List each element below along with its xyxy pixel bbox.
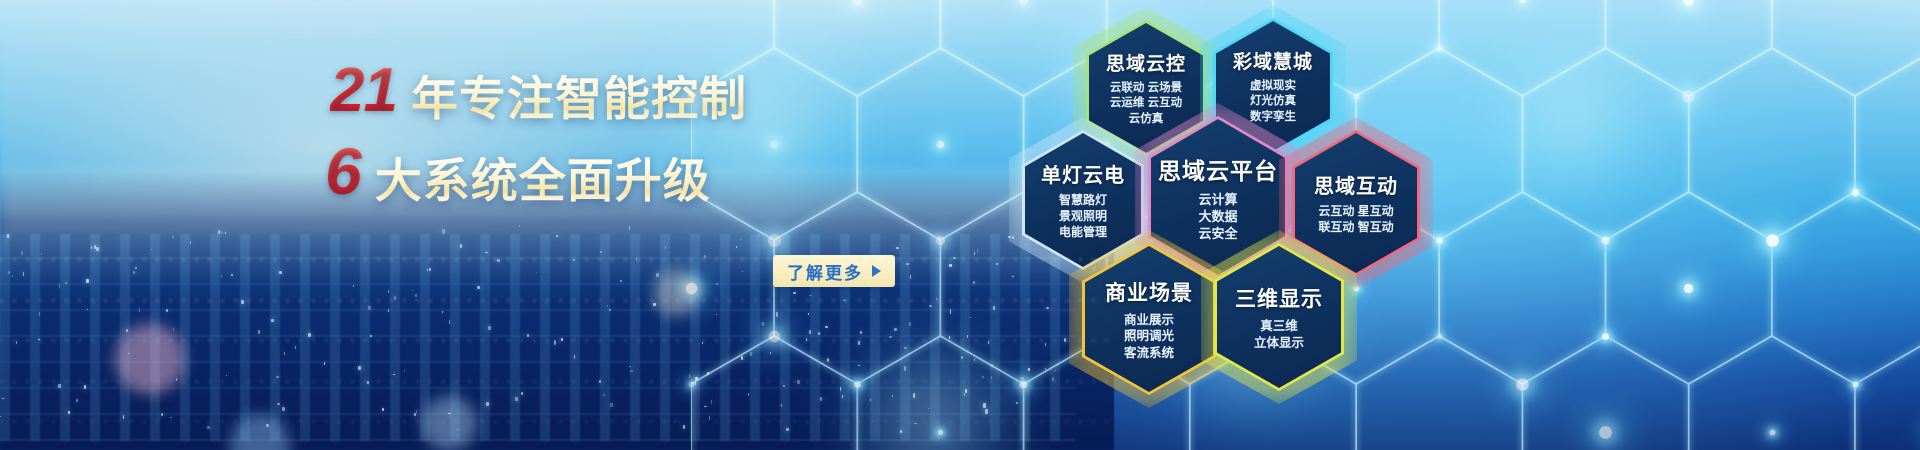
hexagon-subtitle-list: 云互动 星互动联互动 智互动 (1314, 204, 1398, 236)
hexagon-content: 思域互动云互动 星互动联互动 智互动 (1308, 170, 1404, 236)
learn-more-label: 了解更多 (787, 259, 863, 284)
headline-text-1: 年专注智能控制 (411, 75, 747, 122)
hexagon-subtitle-line: 景观照明 (1041, 209, 1125, 225)
hexagon-subtitle-line: 真三维 (1235, 318, 1323, 335)
hexagon-subtitle-line: 灯光仿真 (1233, 94, 1313, 109)
hexagon-content: 彩域慧城虚拟现实灯光仿真数字孪生 (1227, 47, 1319, 125)
hexagon-card-three-dimensional-display[interactable]: 三维显示真三维立体显示 (1214, 243, 1344, 391)
hexagon-title: 思域云控 (1106, 49, 1186, 76)
hexagon-subtitle-line: 联互动 智互动 (1314, 220, 1398, 236)
hexagon-card-commercial-scene[interactable]: 商业场景商业展示照明调光客流系统 (1082, 243, 1216, 395)
hexagon-subtitle-line: 虚拟现实 (1233, 79, 1313, 94)
hexagon-title: 思域互动 (1314, 170, 1398, 199)
hexagon-subtitle-list: 商业展示照明调光客流系统 (1105, 312, 1193, 362)
hexagon-subtitle-line: 大数据 (1158, 208, 1278, 225)
hexagon-subtitle-line: 云仿真 (1106, 112, 1186, 127)
hexagon-title: 思域云平台 (1158, 152, 1278, 186)
play-triangle-icon (872, 265, 881, 277)
hexagon-title: 彩域慧城 (1233, 47, 1313, 74)
hexagon-subtitle-line: 云联动 云场景 (1106, 81, 1186, 96)
headline-text-2: 大系统全面升级 (375, 157, 711, 204)
hexagon-title: 单灯云电 (1041, 159, 1125, 188)
hexagon-subtitle-line: 云安全 (1158, 225, 1278, 242)
promo-banner: 21 年专注智能控制 6 大系统全面升级 了解更多 思域云控云联动 云场景云运维… (0, 0, 1920, 450)
headline-number-21: 21 (330, 60, 411, 122)
hexagon-subtitle-line: 商业展示 (1105, 312, 1193, 329)
hexagon-content: 思域云控云联动 云场景云运维 云互动云仿真 (1100, 49, 1192, 127)
hexagon-title: 三维显示 (1235, 283, 1323, 313)
hexagon-content: 商业场景商业展示照明调光客流系统 (1099, 277, 1199, 362)
hexagon-title: 商业场景 (1105, 277, 1193, 307)
hexagon-subtitle-line: 照明调光 (1105, 328, 1193, 345)
hexagon-content: 单灯云电智慧路灯景观照明电能管理 (1035, 159, 1131, 240)
hexagon-subtitle-list: 云联动 云场景云运维 云互动云仿真 (1106, 81, 1186, 127)
headline-line-1: 21 年专注智能控制 (325, 60, 805, 122)
hexagon-subtitle-line: 客流系统 (1105, 345, 1193, 362)
hexagon-subtitle-line: 数字孪生 (1233, 110, 1313, 125)
hexagon-content: 三维显示真三维立体显示 (1229, 283, 1329, 351)
hexagon-subtitle-line: 电能管理 (1041, 225, 1125, 241)
headline-line-2: 6 大系统全面升级 (325, 138, 805, 204)
hexagon-subtitle-line: 云计算 (1158, 191, 1278, 208)
hexagon-subtitle-line: 云互动 星互动 (1314, 204, 1398, 220)
hexagon-subtitle-line: 立体显示 (1235, 335, 1323, 352)
headline-block: 21 年专注智能控制 6 大系统全面升级 (325, 60, 805, 204)
hexagon-subtitle-line: 云运维 云互动 (1106, 96, 1186, 111)
hexagon-content: 思域云平台云计算大数据云安全 (1152, 152, 1284, 242)
hexagon-subtitle-line: 智慧路灯 (1041, 193, 1125, 209)
hexagon-subtitle-list: 智慧路灯景观照明电能管理 (1041, 193, 1125, 240)
hexagon-subtitle-list: 云计算大数据云安全 (1158, 191, 1278, 242)
hexagon-subtitle-list: 虚拟现实灯光仿真数字孪生 (1233, 79, 1313, 125)
hexagon-subtitle-list: 真三维立体显示 (1235, 318, 1323, 351)
headline-number-6: 6 (325, 138, 375, 204)
